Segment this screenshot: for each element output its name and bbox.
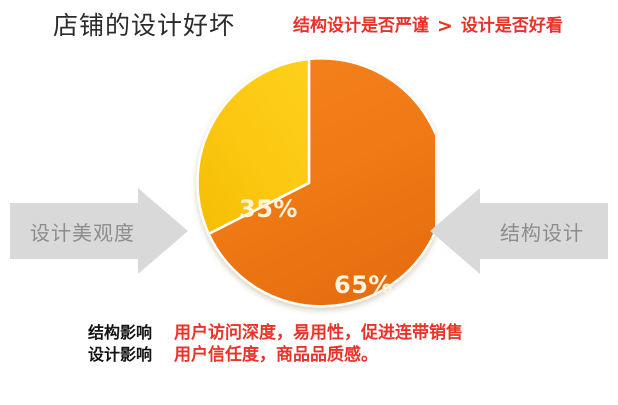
formula-statement: 结构设计是否严谨 > 设计是否好看 — [293, 14, 563, 38]
page-title: 店铺的设计好坏 — [53, 10, 235, 42]
formula-right-term: 设计是否好看 — [461, 14, 563, 38]
note-values: 用户访问深度，易用性，促进连带销售 用户信任度，商品品质感。 — [174, 322, 463, 366]
note-value-structure: 用户访问深度，易用性，促进连带销售 — [174, 322, 463, 344]
pie-label-aesthetics: 35% — [239, 195, 298, 223]
arrow-structure: 结构设计 — [428, 186, 610, 276]
arrow-structure-label: 结构设计 — [500, 217, 584, 246]
infographic-canvas: 店铺的设计好坏 结构设计是否严谨 > 设计是否好看 — [0, 0, 618, 405]
greater-than-icon: > — [436, 14, 454, 38]
note-labels: 结构影响 设计影响 — [88, 322, 152, 366]
arrow-aesthetics: 设计美观度 — [8, 186, 190, 276]
note-label-design: 设计影响 — [88, 344, 152, 366]
formula-left-term: 结构设计是否严谨 — [293, 14, 429, 38]
pie-label-structure: 65% — [334, 271, 393, 299]
notes-block: 结构影响 设计影响 用户访问深度，易用性，促进连带销售 用户信任度，商品品质感。 — [88, 322, 463, 366]
pie-chart: 35% 65% — [183, 57, 435, 309]
arrow-aesthetics-label: 设计美观度 — [30, 217, 135, 246]
note-label-structure: 结构影响 — [88, 322, 152, 344]
pie-chart-svg — [183, 57, 435, 309]
note-value-design: 用户信任度，商品品质感。 — [174, 344, 463, 366]
